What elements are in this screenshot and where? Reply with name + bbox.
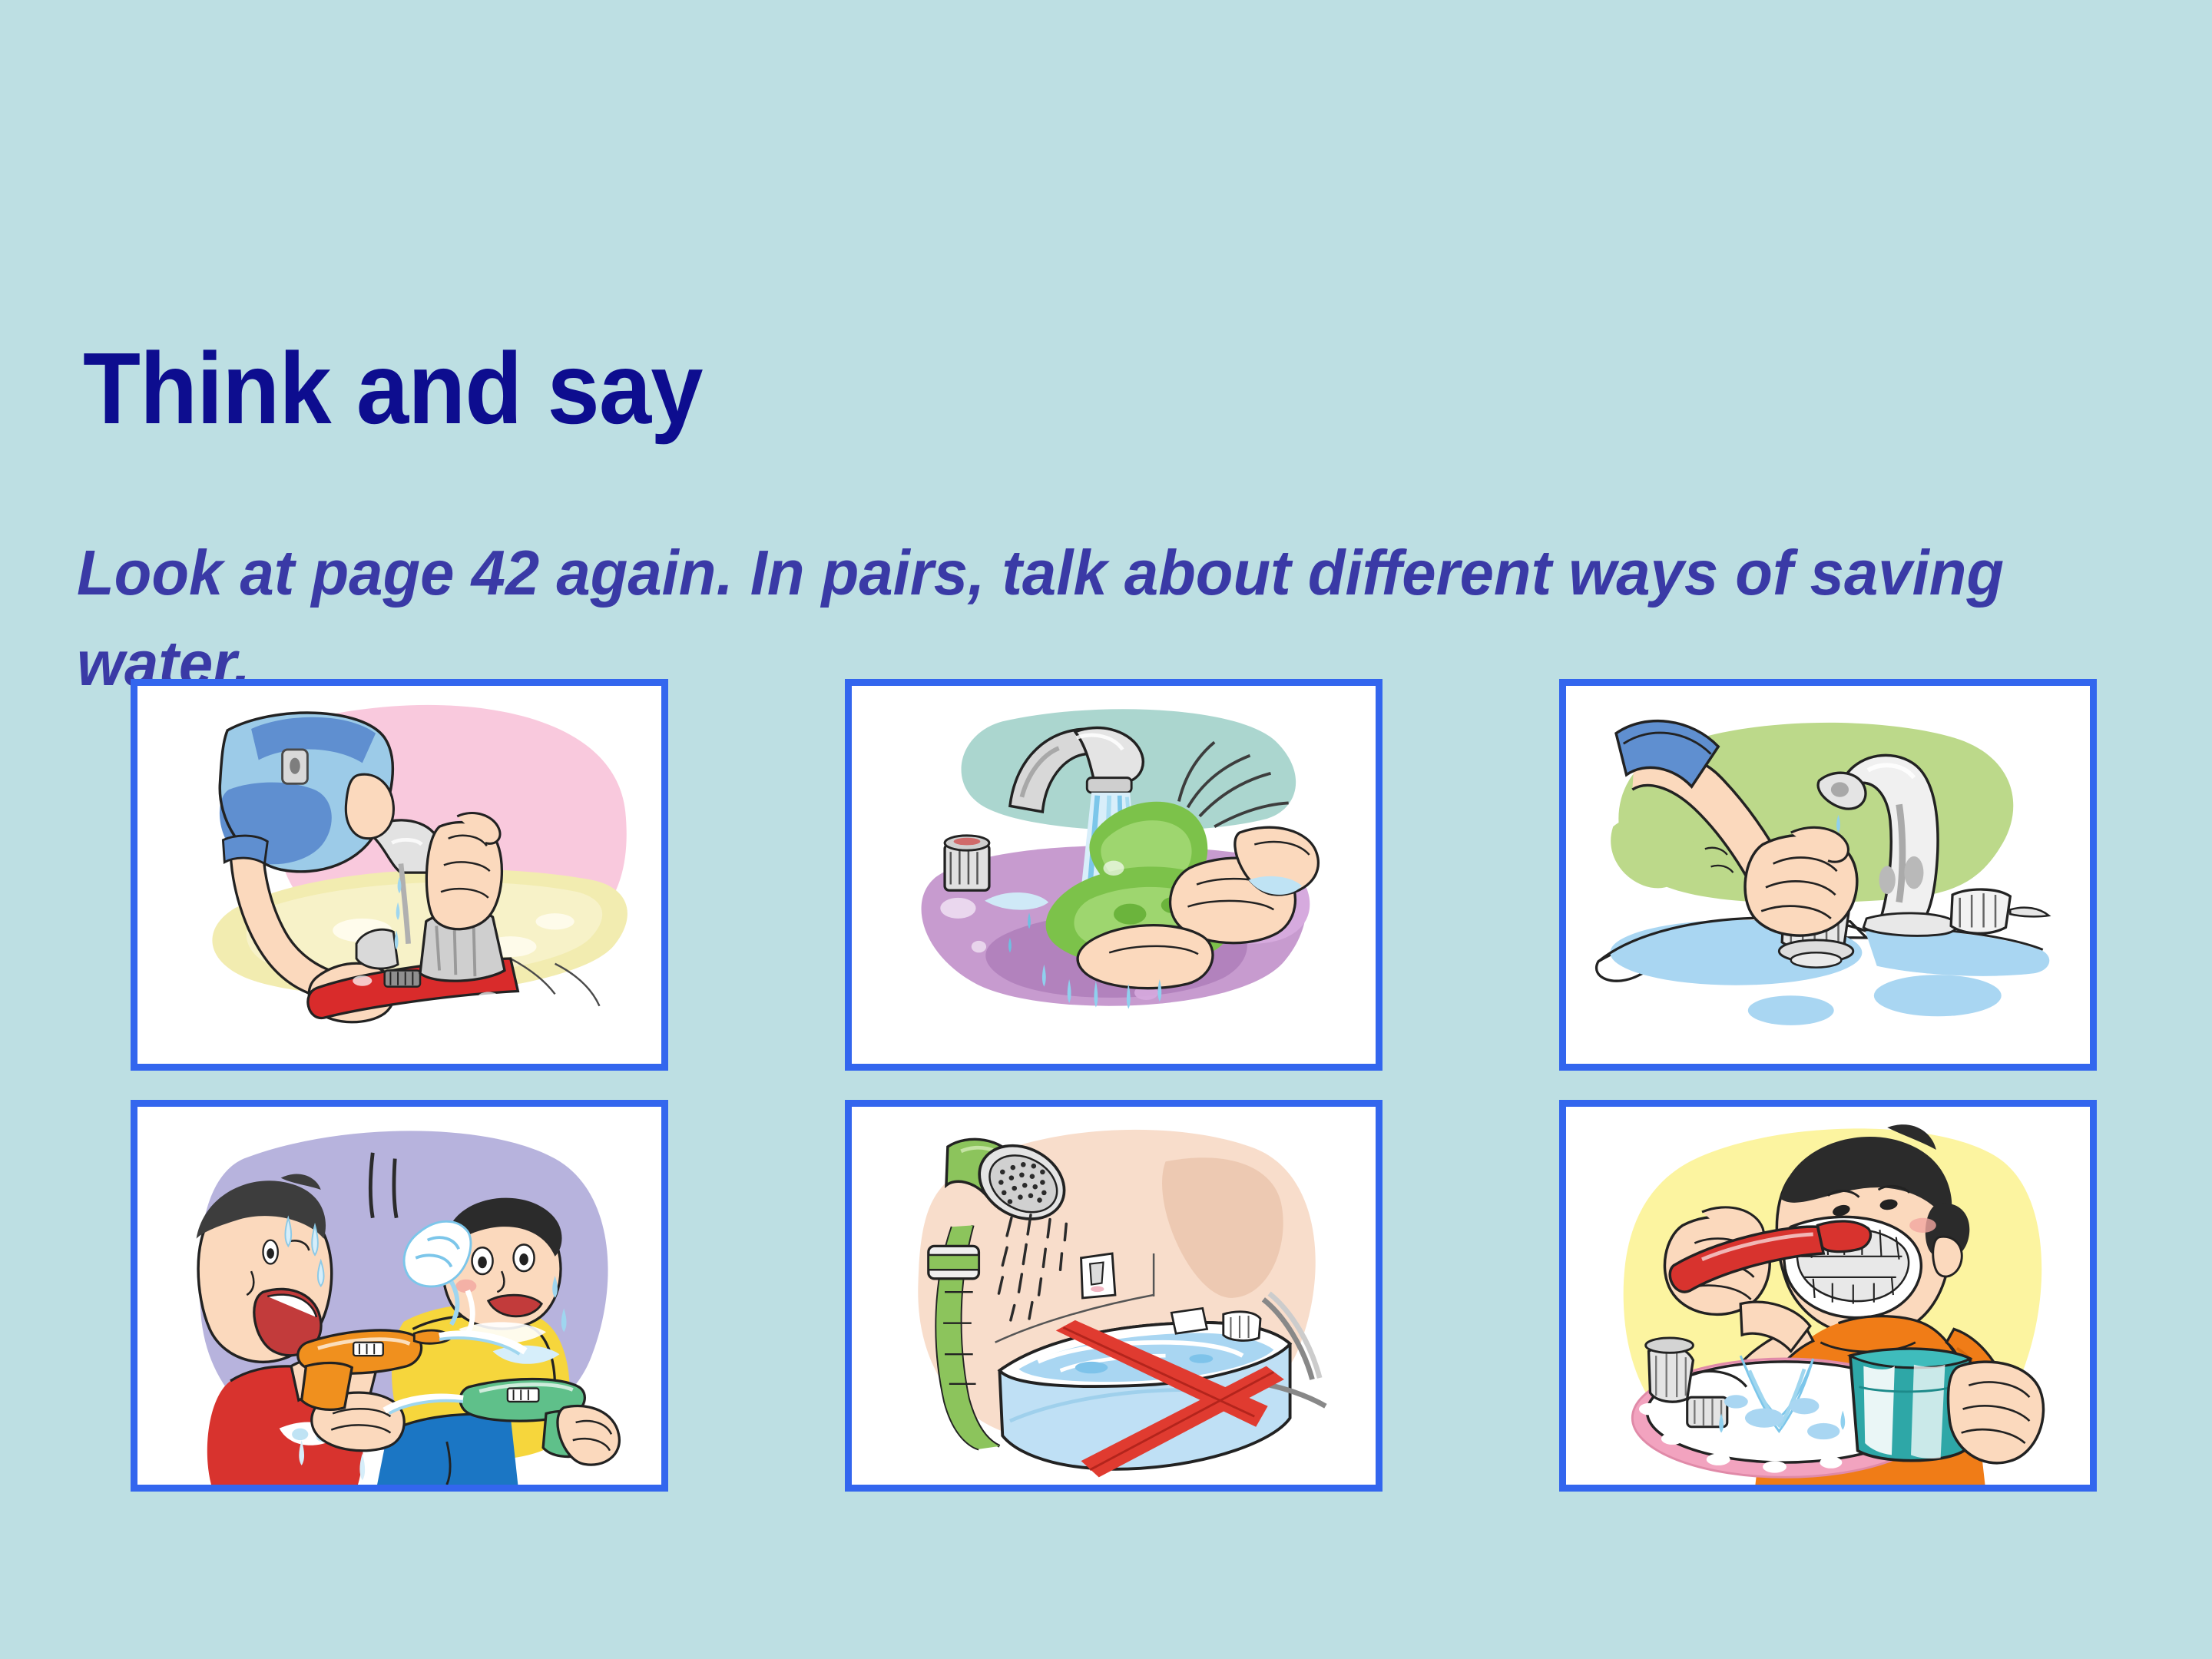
picture-plumber-fixing-tap[interactable] <box>131 679 668 1071</box>
picture-washing-vegetables[interactable] <box>845 679 1382 1071</box>
slide-canvas: Think and say Look at page 42 again. In … <box>0 0 2212 1659</box>
picture-grid <box>131 679 2097 1493</box>
picture-water-gun-fight[interactable] <box>131 1100 668 1492</box>
picture-shower-not-bath[interactable] <box>845 1100 1382 1492</box>
picture-brushing-teeth-with-cup[interactable] <box>1559 1100 2097 1492</box>
picture-turning-off-tap[interactable] <box>1559 679 2097 1071</box>
page-title: Think and say <box>83 338 703 439</box>
